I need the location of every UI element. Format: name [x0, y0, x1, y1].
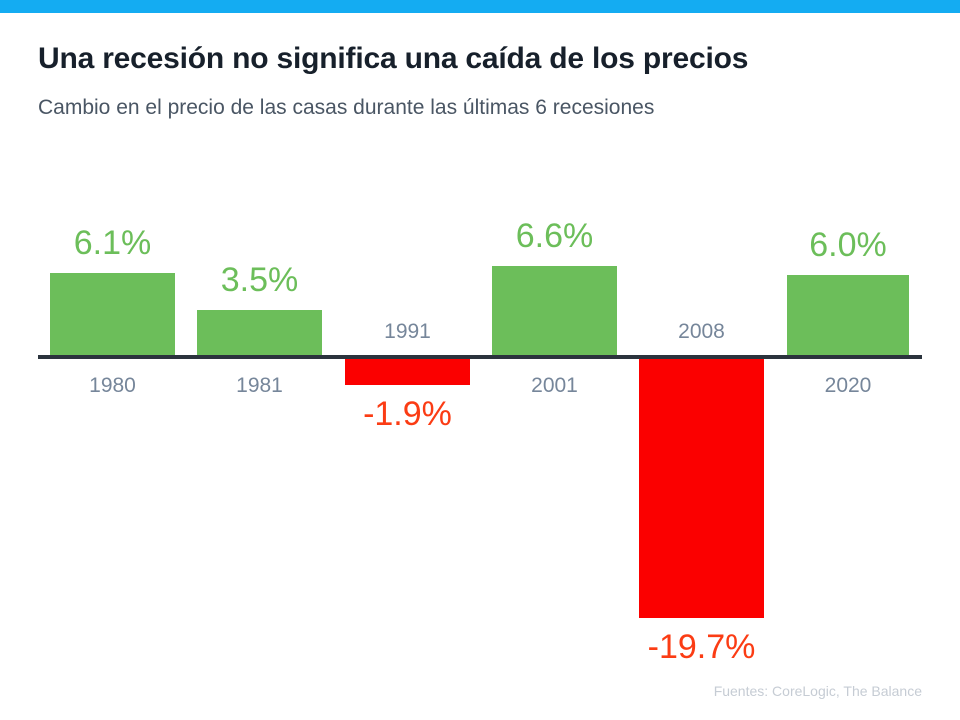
- year-label-1980: 1980: [50, 374, 175, 398]
- year-label-2008: 2008: [639, 320, 764, 344]
- value-label-2020: 6.0%: [787, 226, 909, 265]
- bar-1980: [50, 273, 175, 357]
- value-label-2001: 6.6%: [492, 217, 617, 256]
- year-label-2001: 2001: [492, 374, 617, 398]
- bar-2008: [639, 359, 764, 618]
- bar-1991: [345, 359, 470, 385]
- source-note: Fuentes: CoreLogic, The Balance: [714, 683, 922, 699]
- value-label-1981: 3.5%: [197, 261, 322, 300]
- value-label-1980: 6.1%: [50, 224, 175, 263]
- bar-1981: [197, 310, 322, 357]
- bar-2020: [787, 275, 909, 357]
- value-label-2008: -19.7%: [614, 628, 789, 667]
- year-label-1981: 1981: [197, 374, 322, 398]
- year-label-2020: 2020: [787, 374, 909, 398]
- slide-canvas: Una recesión no significa una caída de l…: [0, 0, 960, 720]
- value-label-1991: -1.9%: [345, 395, 470, 434]
- bar-chart: 6.1% 1980 3.5% 1981 1991 -1.9% 6.6% 2001…: [0, 0, 960, 720]
- year-label-1991: 1991: [345, 320, 470, 344]
- zero-axis-line: [38, 355, 922, 359]
- bar-2001: [492, 266, 617, 357]
